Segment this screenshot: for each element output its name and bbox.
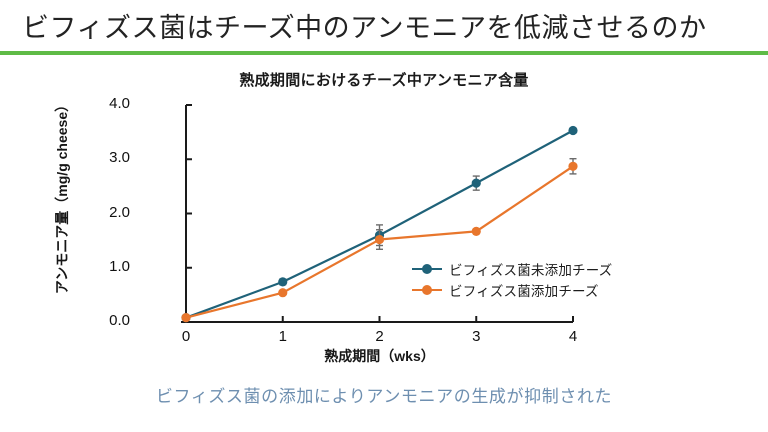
chart-container: 熟成期間におけるチーズ中アンモニア含量 アンモニア量（mg/g cheese） … (0, 56, 768, 376)
legend-marker-icon (412, 262, 442, 276)
legend-marker-icon (412, 283, 442, 297)
x-tick-label: 4 (558, 328, 588, 345)
legend-label: ビフィズス菌添加チーズ (449, 280, 599, 300)
title-underline-rule (0, 51, 768, 55)
legend-label: ビフィズス菌未添加チーズ (449, 259, 612, 279)
legend-item[interactable]: ビフィズス菌未添加チーズ (412, 259, 612, 278)
x-tick-label: 1 (268, 328, 298, 345)
legend-item[interactable]: ビフィズス菌添加チーズ (412, 280, 612, 299)
x-tick-label: 3 (461, 328, 491, 345)
slide-caption: ビフィズス菌の添加によりアンモニアの生成が抑制された (0, 382, 768, 407)
page-title: ビフィズス菌はチーズ中のアンモニアを低減させるのか (0, 6, 768, 52)
x-axis-title: 熟成期間（wks） (186, 346, 573, 366)
x-tick-label: 2 (365, 328, 395, 345)
x-tick-label: 0 (171, 328, 201, 345)
x-axis-tick-labels: 01234 (0, 56, 768, 376)
chart-legend: ビフィズス菌未添加チーズビフィズス菌添加チーズ (412, 259, 612, 299)
